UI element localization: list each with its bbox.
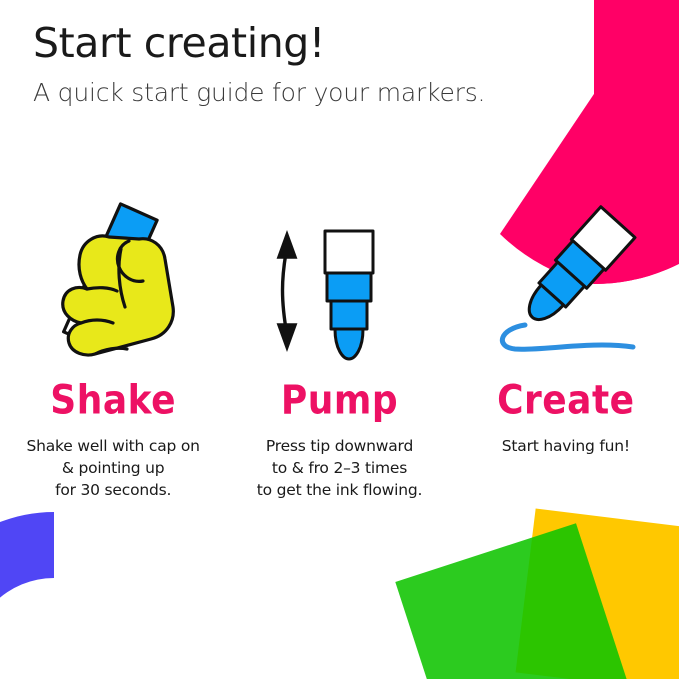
marker-drawing-line-icon xyxy=(481,189,651,361)
step-pump-description: Press tip downward to & fro 2–3 times to… xyxy=(257,435,422,501)
step-pump-art xyxy=(259,186,419,361)
step-shake: Shake Shake well with cap on & pointing … xyxy=(0,186,226,501)
page-subtitle: A quick start guide for your markers. xyxy=(33,78,593,108)
step-shake-description: Shake well with cap on & pointing up for… xyxy=(27,435,200,501)
step-pump: Pump Press tip downward to & fro 2–3 tim… xyxy=(226,186,452,501)
step-pump-title: Pump xyxy=(281,381,398,421)
step-create-title: Create xyxy=(497,381,635,421)
marker-pump-arrow-icon xyxy=(259,189,419,361)
step-shake-art xyxy=(33,186,193,361)
page-title: Start creating! xyxy=(33,20,593,67)
steps-row: Shake Shake well with cap on & pointing … xyxy=(0,186,679,501)
hand-holding-marker-icon xyxy=(33,189,193,361)
step-shake-title: Shake xyxy=(50,381,176,421)
step-create-description: Start having fun! xyxy=(502,435,630,457)
page-header: Start creating! A quick start guide for … xyxy=(33,20,593,108)
quick-start-guide-page: Start creating! A quick start guide for … xyxy=(0,0,679,679)
step-create-art xyxy=(481,186,651,361)
step-create: Create Start having fun! xyxy=(453,186,679,501)
purple-arc-shape xyxy=(0,512,204,679)
